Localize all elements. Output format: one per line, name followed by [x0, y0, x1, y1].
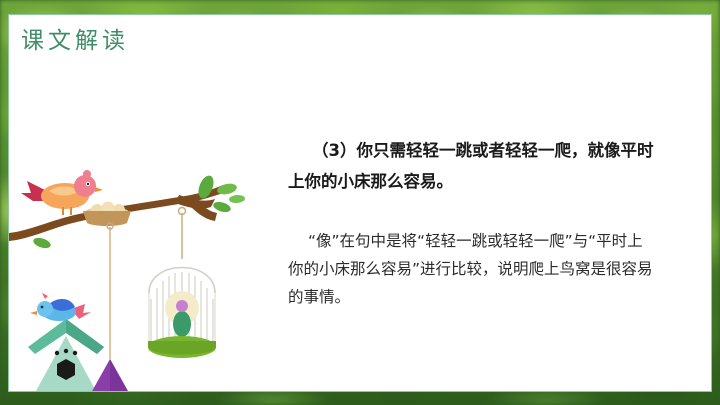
page-title: 课文解读	[21, 21, 129, 55]
birdhouse-dot-3	[73, 351, 77, 355]
leaf-5	[32, 236, 52, 250]
content-card: 课文解读	[8, 14, 712, 392]
birdhouse-dot-1	[55, 351, 59, 355]
leaf-4	[229, 194, 246, 203]
hanging-house-body	[93, 391, 127, 392]
blue-bird-crest	[42, 293, 48, 299]
illustration-birds-and-birdhouses	[9, 141, 249, 392]
cage-bird-body	[173, 311, 191, 337]
hanging-house-roof-shade	[110, 359, 129, 392]
mint-birdhouse	[28, 319, 104, 392]
nest-body	[83, 211, 131, 226]
orange-bird-crest	[83, 170, 91, 178]
birdhouse-platform	[33, 391, 99, 392]
blue-bird-head	[37, 301, 53, 317]
hanging-house-body-shade	[111, 391, 127, 392]
orange-bird-beak	[95, 187, 103, 192]
blue-bird	[30, 293, 91, 321]
explanation-paragraph: “像”在句中是将“轻轻一跳或轻轻一爬”与“平时上你的小床那么容易”进行比较，说明…	[288, 227, 654, 311]
blue-bird-eye	[41, 306, 44, 309]
orange-bird	[21, 170, 103, 215]
cage-bird-head	[176, 300, 188, 312]
text-block: （3）你只需轻轻一跳或者轻轻一爬，就像平时上你的小床那么容易。 “像”在句中是将…	[288, 135, 654, 311]
blue-bird-beak	[30, 311, 37, 315]
birdhouse-dot-2	[64, 349, 68, 353]
birdcage	[148, 268, 216, 359]
orange-bird-head	[74, 175, 96, 197]
leaf-3	[212, 200, 232, 214]
quote-paragraph: （3）你只需轻轻一跳或者轻轻一爬，就像平时上你的小床那么容易。	[288, 135, 654, 197]
pink-hanging-birdhouse	[91, 359, 129, 392]
slide-root: 课文解读	[0, 0, 720, 405]
cage-base-rim	[148, 341, 216, 355]
orange-bird-eye	[87, 183, 89, 185]
